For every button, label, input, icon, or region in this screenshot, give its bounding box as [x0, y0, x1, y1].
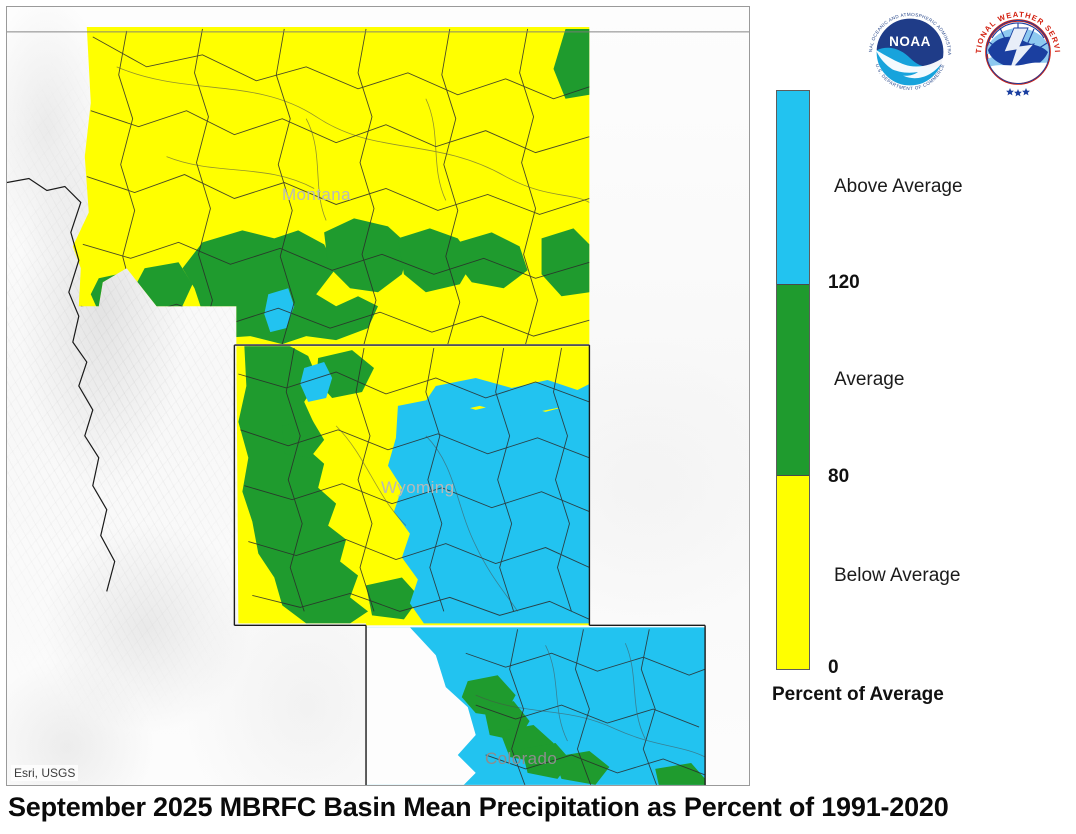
colorado-basins	[364, 625, 707, 785]
nws-logo: NATIONAL WEATHER SERVICE	[968, 2, 1068, 102]
legend-band-below-average	[777, 476, 809, 669]
basin-polygons-layer	[7, 7, 749, 785]
agency-logos: NOAA NATIONAL OCEANIC AND ATMOSPHERIC AD…	[860, 2, 1072, 112]
legend-label-below-average: Below Average	[834, 565, 960, 587]
legend-band-average	[777, 284, 809, 477]
legend-title: Percent of Average	[772, 684, 944, 706]
legend-color-bar	[776, 90, 810, 670]
legend-tick-80: 80	[828, 466, 849, 488]
legend-label-average: Average	[834, 369, 904, 391]
montana-basins	[67, 25, 606, 354]
page-title: September 2025 MBRFC Basin Mean Precipit…	[8, 792, 1068, 823]
noaa-logo: NOAA NATIONAL OCEANIC AND ATMOSPHERIC AD…	[860, 2, 960, 102]
legend-tick-0: 0	[828, 657, 839, 679]
wyoming-basins	[234, 342, 593, 627]
nws-stars	[1006, 88, 1030, 96]
map-attribution: Esri, USGS	[11, 765, 78, 781]
map-panel[interactable]: Montana Wyoming Colorado Esri, USGS	[6, 6, 750, 786]
legend-label-above-average: Above Average	[834, 176, 963, 198]
legend-band-above-average	[777, 91, 809, 284]
noaa-acronym: NOAA	[889, 34, 931, 49]
legend-tick-120: 120	[828, 272, 860, 294]
